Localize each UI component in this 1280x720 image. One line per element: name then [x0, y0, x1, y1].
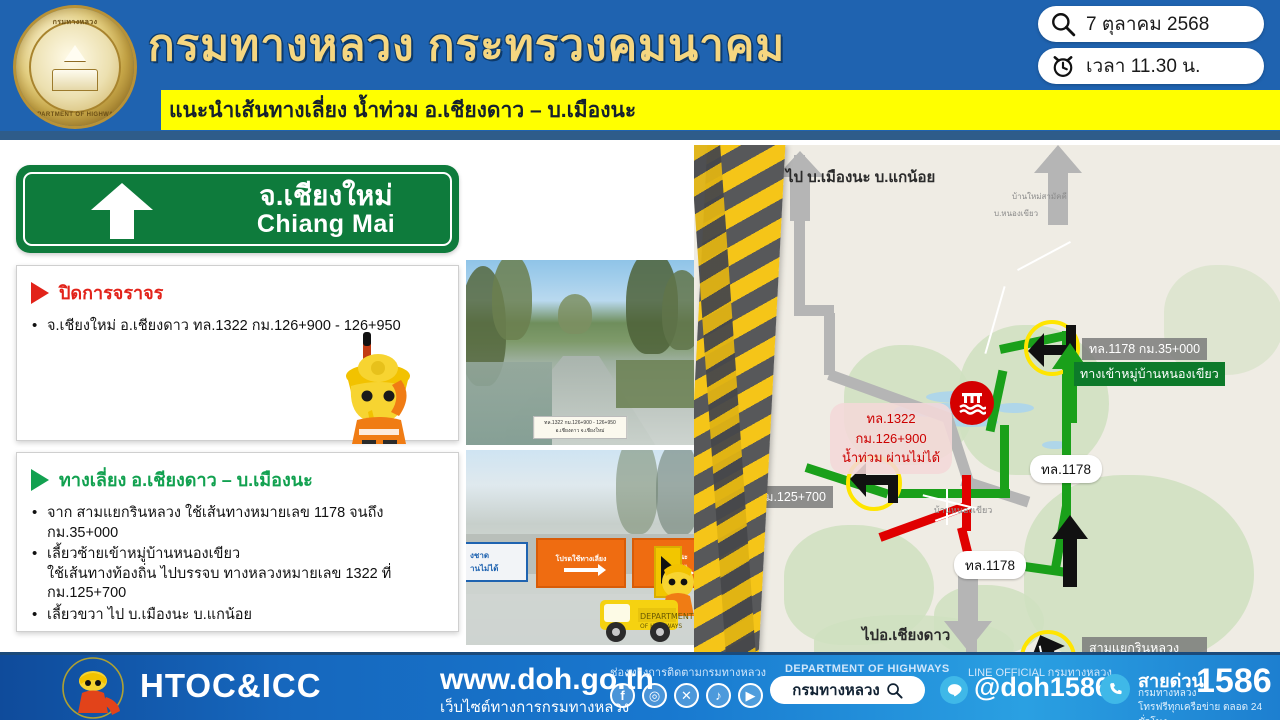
flood-warning-box: ทล.1322 กม.126+900 น้ำท่วม ผ่านไม่ได้ — [830, 403, 952, 474]
line-chat-icon[interactable] — [940, 676, 968, 704]
seal-emblem-icon — [46, 43, 104, 95]
detour-list: จาก สามแยกรินหลวง ใช้เส้นทางหมายเลข 1178… — [17, 504, 458, 625]
facebook-icon[interactable]: f — [610, 683, 635, 708]
green-triangle-icon — [31, 469, 49, 491]
seal-top-text: กรมทางหลวง — [16, 17, 134, 28]
closure-card: ปิดการจราจร จ.เชียงใหม่ อ.เชียงดาว ทล.13… — [16, 265, 459, 441]
line-official-id[interactable]: @doh1586 — [974, 672, 1110, 703]
right-arrow-icon — [564, 568, 598, 572]
date-text: 7 ตุลาคม 2568 — [1086, 9, 1209, 39]
closure-card-header: ปิดการจราจร — [17, 266, 458, 307]
doh-mascot-icon — [60, 657, 126, 719]
htoc-label: HTOC&ICC — [140, 667, 322, 705]
closure-card-title: ปิดการจราจร — [59, 278, 163, 307]
phone-icon — [1100, 674, 1130, 704]
doh-search-pill[interactable]: กรมทางหลวง — [770, 676, 925, 704]
map-label-tl1178-35000: ทล.1178 กม.35+000 — [1082, 338, 1207, 360]
detour-card-title: ทางเลี่ยง อ.เชียงดาว – บ.เมืองนะ — [59, 465, 313, 494]
list-item: จาก สามแยกรินหลวง ใช้เส้นทางหมายเลข 1178… — [47, 504, 446, 543]
flood-box-line3: น้ำท่วม ผ่านไม่ได้ — [842, 448, 940, 468]
youtube-icon[interactable]: ▶ — [738, 683, 763, 708]
detour-item-2: เลี้ยวขวา ไป บ.เมืองนะ บ.แกน้อย — [47, 607, 252, 623]
search-icon — [1050, 11, 1076, 37]
detour-map[interactable]: บ้านใหม่สามัคคี บ้านหนองเขียว บ.หนองเขีย… — [694, 145, 1280, 655]
doh-seal-logo: กรมทางหลวง DEPARTMENT OF HIGHWAYS — [16, 8, 134, 126]
time-text: เวลา 11.30 น. — [1086, 51, 1200, 81]
map-label-to-chiangdao: ไปอ.เชียงดาว — [862, 623, 950, 647]
flood-caption-line1: ทล.1322 กม.126+900 - 126+950 — [544, 420, 616, 428]
hotline-sub1: กรมทางหลวง — [1138, 686, 1196, 701]
direction-sign-english: Chiang Mai — [211, 210, 441, 239]
flood-water-icon — [950, 381, 994, 425]
flood-box-line1: ทล.1322 — [842, 409, 940, 429]
tiktok-icon[interactable]: ♪ — [706, 683, 731, 708]
header-divider — [0, 131, 1280, 140]
hotline-number: 1586 — [1196, 662, 1272, 701]
road-closed-sign: งชาด านไม่ได้ — [466, 542, 528, 582]
alarm-clock-icon — [1050, 53, 1076, 79]
detour-signs-photo: งชาด านไม่ได้ โปรดใช้ทางเลี่ยง บ. เมืองน… — [466, 450, 694, 645]
place-name-label: บ้านใหม่สามัคคี — [1012, 190, 1067, 203]
time-pill: เวลา 11.30 น. — [1038, 48, 1264, 84]
map-label-to-muangna: ไป บ.เมืองนะ บ.แกน้อย — [786, 165, 935, 189]
direction-sign-thai: จ.เชียงใหม่ — [211, 174, 441, 218]
grey-arrow-northeast-icon — [1030, 145, 1086, 225]
list-item: เลี้ยวซ้ายเข้าหมู่บ้านหนองเขียว ใช้เส้นท… — [47, 545, 446, 604]
social-heading: ช่องทางการติดตามกรมทางหลวง — [610, 663, 766, 681]
flood-caption-line2: อ.เชียงดาว จ.เชียงใหม่ — [544, 428, 616, 436]
doh-mascot-truck-icon: DEPARTMENT OF HIGHWAYS — [594, 560, 694, 645]
red-triangle-icon — [31, 282, 49, 304]
subtitle-banner: แนะนำเส้นทางเลี่ยง น้ำท่วม อ.เชียงดาว – … — [161, 90, 1280, 130]
page-title: กรมทางหลวง กระทรวงคมนาคม — [148, 10, 785, 80]
detour-item-0: จาก สามแยกรินหลวง ใช้เส้นทางหมายเลข 1178… — [47, 505, 383, 541]
up-arrow-icon — [91, 183, 153, 239]
subtitle-text: แนะนำเส้นทางเลี่ยง น้ำท่วม อ.เชียงดาว – … — [169, 94, 636, 127]
turn-arrow-icon — [1048, 515, 1092, 587]
content-area: จ.เชียงใหม่ Chiang Mai ปิดการจราจร จ.เชี… — [0, 145, 1280, 655]
direction-sign: จ.เชียงใหม่ Chiang Mai — [16, 165, 459, 253]
map-label-village-entrance: ทางเข้าหมู่บ้านหนองเขียว — [1074, 362, 1225, 386]
x-icon[interactable]: ✕ — [674, 683, 699, 708]
place-name-label: บ้านหนองเขียว — [934, 503, 992, 517]
list-item: เลี้ยวขวา ไป บ.เมืองนะ บ.แกน้อย — [47, 606, 446, 626]
detour-card: ทางเลี่ยง อ.เชียงดาว – บ.เมืองนะ จาก สาม… — [16, 452, 459, 632]
svg-text:DEPARTMENT: DEPARTMENT — [640, 612, 694, 621]
search-term: กรมทางหลวง — [792, 678, 880, 702]
detour-item-1: เลี้ยวซ้ายเข้าหมู่บ้านหนองเขียว — [47, 546, 240, 562]
closed-sign-line2: านไม่ได้ — [470, 562, 526, 575]
map-pill-tl1178-south: ทล.1178 — [954, 551, 1026, 579]
instagram-icon[interactable]: ◎ — [642, 683, 667, 708]
date-pill: 7 ตุลาคม 2568 — [1038, 6, 1264, 42]
place-name-label: บ.หนองเขียว — [994, 207, 1038, 220]
hotline-sub2: โทรฟรีทุกเครือข่าย ตลอด 24 ชั่วโมง — [1138, 700, 1280, 720]
page-header: กรมทางหลวง DEPARTMENT OF HIGHWAYS กรมทาง… — [0, 0, 1280, 131]
flood-photo-caption: ทล.1322 กม.126+900 - 126+950 อ.เชียงดาว … — [533, 416, 627, 439]
website-subtitle: เว็บไซต์ทางการกรมทางหลวง — [440, 695, 629, 719]
closed-sign-line1: งชาด — [470, 549, 526, 562]
seal-bottom-text: DEPARTMENT OF HIGHWAYS — [16, 112, 134, 118]
department-heading: DEPARTMENT OF HIGHWAYS — [785, 663, 950, 675]
detour-item-1-sub: ใช้เส้นทางท้องถิ่น ไปบรรจบ ทางหลวงหมายเล… — [47, 565, 446, 604]
detour-card-header: ทางเลี่ยง อ.เชียงดาว – บ.เมืองนะ — [17, 453, 458, 494]
flood-box-line2: กม.126+900 — [842, 429, 940, 449]
doh-mascot-icon — [317, 324, 435, 444]
map-pill-tl1178-north: ทล.1178 — [1030, 455, 1102, 483]
search-icon — [886, 682, 903, 699]
flood-photo: ทล.1322 กม.126+900 - 126+950 อ.เชียงดาว … — [466, 260, 694, 445]
